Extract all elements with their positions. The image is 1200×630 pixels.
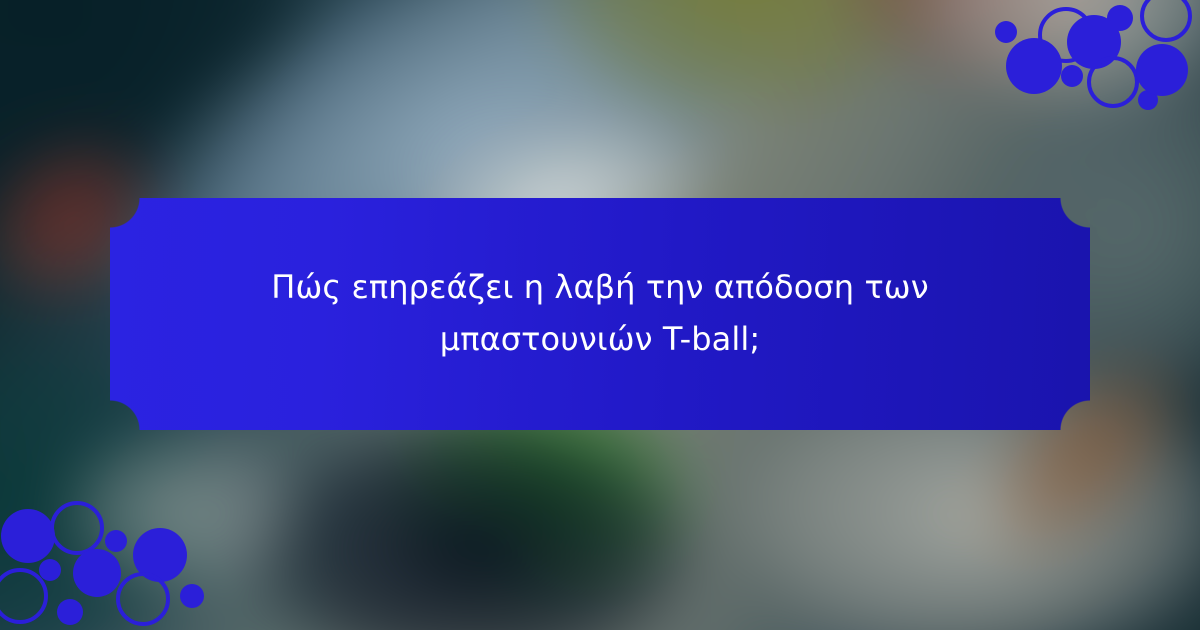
share-card: Πώς επηρεάζει η λαβή την απόδοση των μπα…: [0, 0, 1200, 630]
background-blob-pale-spot: [59, 426, 303, 596]
headline-banner: Πώς επηρεάζει η λαβή την απόδοση των μπα…: [110, 198, 1090, 430]
page-title: Πώς επηρεάζει η λαβή την απόδοση των μπα…: [228, 262, 972, 366]
headline-banner-content: Πώς επηρεάζει η λαβή την απόδοση των μπα…: [110, 198, 1090, 430]
